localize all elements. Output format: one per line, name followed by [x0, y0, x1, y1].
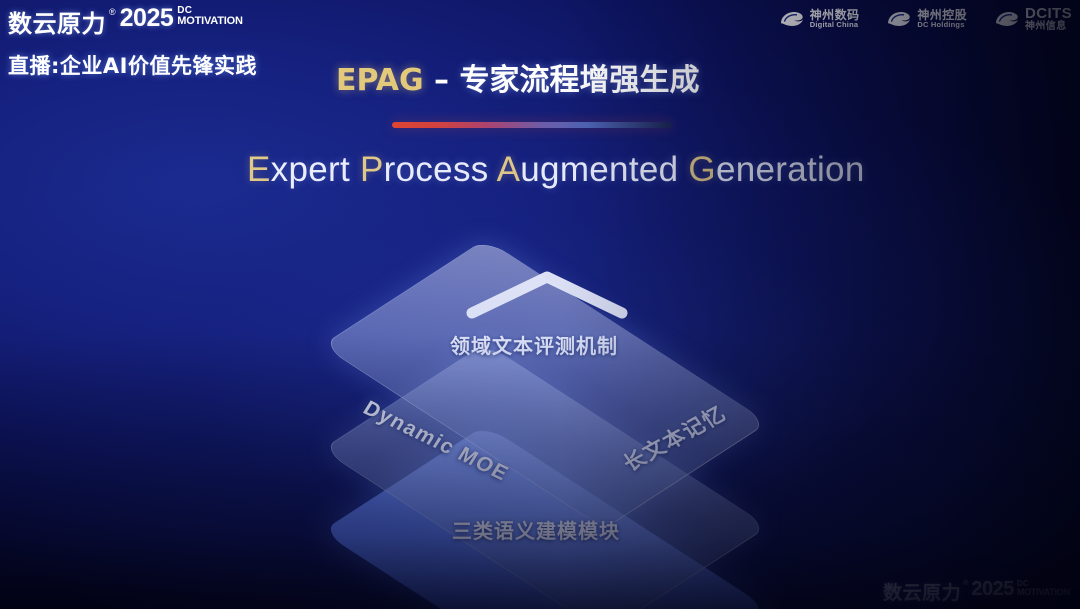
subtitle-space — [350, 150, 360, 189]
partner-logo-group: 神州数码 Digital China 神州控股 DC Holdings — [778, 6, 1072, 32]
brand-logo: 数云原力 ® 2025 DC MOTIVATION — [8, 4, 243, 39]
watermark-cn: 数云原力 — [883, 578, 961, 605]
brand-logo-registered-mark: ® — [109, 7, 116, 17]
swirl-icon — [778, 9, 805, 29]
page-title-dash: – — [434, 63, 449, 98]
page-title-chinese: 专家流程增强生成 — [459, 63, 699, 98]
subtitle-initial-p: P — [360, 150, 384, 189]
brand-logo-cn: 数云原力 — [8, 4, 106, 39]
layered-architecture-diagram: 领域文本评测机制 Dynamic MOE 长文本记忆 三类语义建模模块 — [165, 205, 915, 585]
partner-name-en: Digital China — [810, 21, 860, 29]
watermark-dc-motivation: DC MOTIVATION — [1017, 580, 1070, 596]
footer-watermark-logo: 数云原力 ® 2025 DC MOTIVATION — [883, 578, 1070, 605]
subtitle-initial-g: G — [688, 150, 716, 189]
partner-name-cn: 神州信息 — [1025, 22, 1072, 33]
partner-logo-digital-china: 神州数码 Digital China — [778, 9, 860, 29]
partner-logo-dcits: DCITS 神州信息 — [993, 6, 1072, 32]
brand-logo-motivation: MOTIVATION — [177, 16, 242, 26]
page-subtitle: Expert Process Augmented Generation — [247, 150, 865, 190]
diagram-label-bottom: 三类语义建模模块 — [452, 515, 620, 544]
accent-divider-bar — [392, 122, 672, 128]
partner-logo-text: 神州控股 DC Holdings — [917, 9, 967, 29]
swirl-icon — [885, 9, 912, 29]
subtitle-word-augmented: ugmented — [520, 150, 678, 189]
partner-logo-text: DCITS 神州信息 — [1025, 6, 1072, 32]
subtitle-space — [489, 150, 497, 189]
brand-logo-dc-motivation: DC MOTIVATION — [177, 6, 242, 26]
live-broadcast-label: 直播:企业AI价值先锋实践 — [8, 50, 257, 80]
watermark-year: 2025 — [971, 578, 1014, 601]
subtitle-word-expert: xpert — [271, 150, 350, 189]
subtitle-initial-a: A — [497, 150, 521, 189]
watermark-motivation: MOTIVATION — [1017, 588, 1070, 597]
partner-name-en: DC Holdings — [917, 21, 967, 29]
subtitle-space — [678, 150, 688, 189]
diagram-label-top: 领域文本评测机制 — [450, 330, 618, 359]
subtitle-word-process: rocess — [384, 150, 489, 189]
page-title: EPAG – 专家流程增强生成 — [336, 55, 699, 99]
brand-logo-year: 2025 — [120, 4, 174, 33]
subtitle-word-generation: eneration — [716, 150, 865, 189]
partner-name-en: DCITS — [1025, 6, 1072, 22]
swirl-icon — [993, 9, 1020, 29]
slide-canvas: 数云原力 ® 2025 DC MOTIVATION 直播:企业AI价值先锋实践 … — [0, 0, 1080, 609]
subtitle-initial-e: E — [247, 150, 271, 189]
watermark-registered-mark: ® — [963, 580, 968, 587]
page-title-acronym: EPAG — [336, 63, 424, 98]
partner-logo-dc-holdings: 神州控股 DC Holdings — [885, 9, 967, 29]
partner-logo-text: 神州数码 Digital China — [810, 9, 860, 29]
